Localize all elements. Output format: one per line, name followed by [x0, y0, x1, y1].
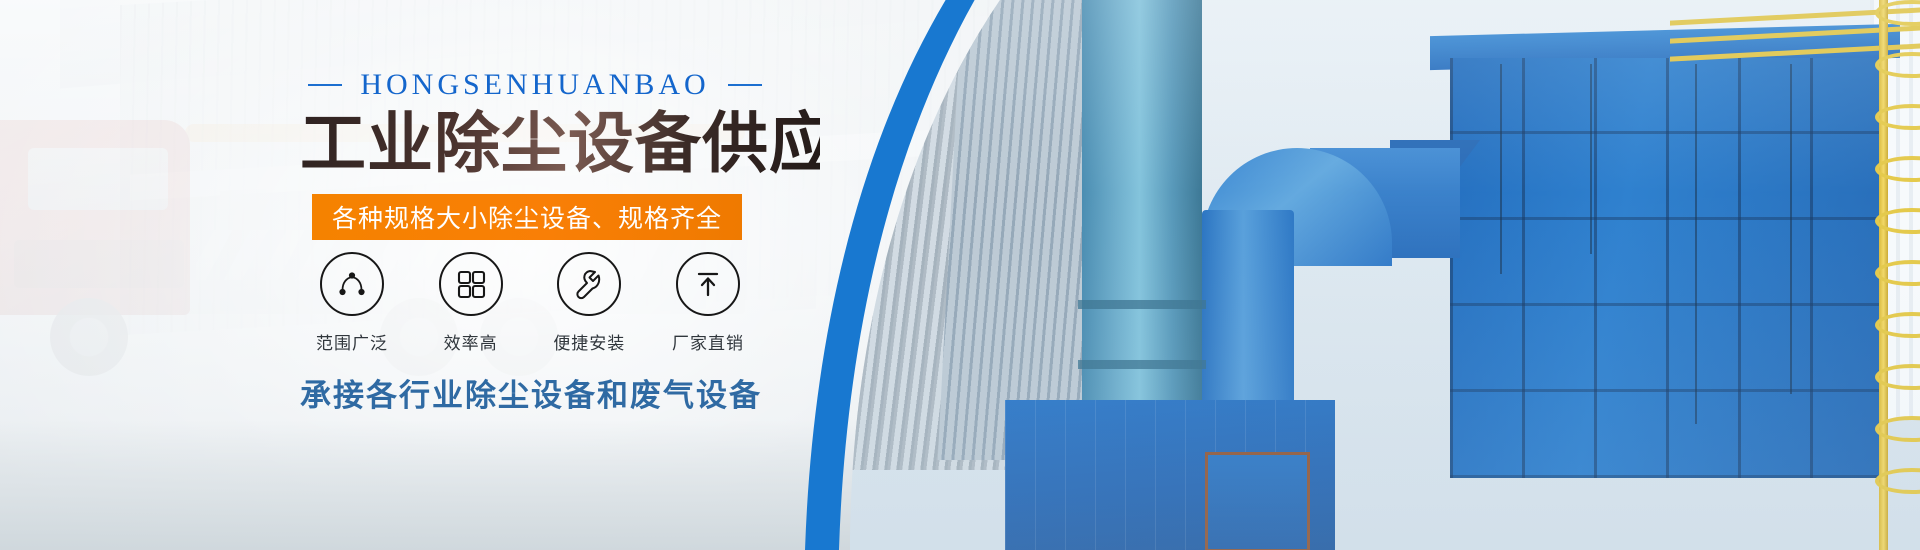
feature-icon-circle	[439, 252, 503, 316]
eyebrow-dash-left	[308, 84, 342, 86]
arrow-up-bar-icon	[691, 267, 725, 301]
eyebrow-dash-right	[728, 84, 762, 86]
tagline-text: 承接各行业除尘设备和废气设备	[300, 370, 760, 415]
feature-item-range[interactable]: 范围广泛	[300, 252, 404, 354]
share-network-icon	[334, 266, 370, 302]
wrench-tool-icon	[571, 266, 607, 302]
feature-icon-circle	[557, 252, 621, 316]
feature-item-factory-direct[interactable]: 厂家直销	[656, 252, 760, 354]
feature-label: 效率高	[419, 329, 523, 354]
feature-label: 厂家直销	[656, 329, 760, 354]
subtitle-text: 各种规格大小除尘设备、规格齐全	[332, 199, 722, 235]
feature-label: 便捷安装	[537, 329, 641, 354]
brand-eyebrow: HONGSENHUANBAO	[300, 68, 770, 102]
promo-banner: HONGSENHUANBAO 工业除尘设备供应商 各种规格大小除尘设备、规格齐全	[0, 0, 1920, 550]
feature-label: 范围广泛	[300, 329, 404, 354]
subtitle-orange-band: 各种规格大小除尘设备、规格齐全	[312, 194, 742, 240]
feature-list: 范围广泛 效率高	[300, 252, 760, 354]
grid-squares-icon	[454, 267, 488, 301]
feature-icon-circle	[676, 252, 740, 316]
brand-name: HONGSENHUANBAO	[360, 68, 709, 102]
feature-item-installation[interactable]: 便捷安装	[537, 252, 641, 354]
headline-title: 工业除尘设备供应商	[300, 108, 820, 179]
feature-item-efficiency[interactable]: 效率高	[419, 252, 523, 354]
feature-icon-circle	[320, 252, 384, 316]
banner-content: HONGSENHUANBAO 工业除尘设备供应商 各种规格大小除尘设备、规格齐全	[0, 0, 1100, 550]
